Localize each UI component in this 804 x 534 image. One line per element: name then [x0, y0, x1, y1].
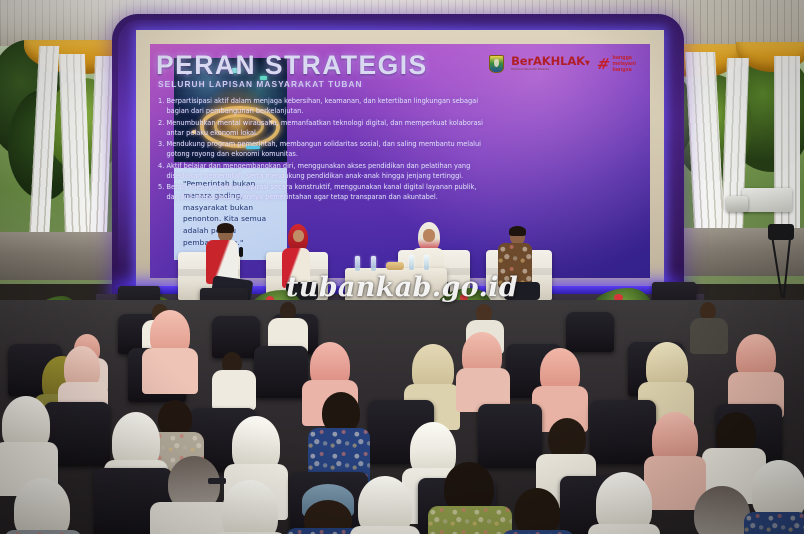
audience-head [514, 488, 560, 534]
slide-list-item: 4.Aktif belajar dan mengembangkan diri, … [158, 161, 488, 181]
slide-list-item: 1.Berpartisipasi aktif dalam menjaga keb… [158, 96, 488, 116]
hashtag-icon: # [595, 57, 611, 72]
list-number: 2. [158, 118, 164, 128]
list-number: 4. [158, 161, 164, 171]
panelist-4-hair [509, 226, 526, 236]
audience-body [350, 526, 420, 534]
slide-list-item: 2.Menumbuhkan mental wirausaha, memanfaa… [158, 118, 488, 138]
water-bottle [371, 256, 376, 271]
audience-body [212, 370, 256, 410]
bangga-line-3: bangsa [612, 67, 636, 73]
slide-title: PERAN STRATEGIS [156, 50, 428, 81]
list-number: 1. [158, 96, 164, 106]
slide-logo-group: BerAKHLAK BANGGA MELAYANI BANGSA # bangg… [489, 55, 636, 73]
slide-subtitle: SELURUH LAPISAN MASYARAKAT TUBAN [158, 79, 363, 89]
snack-plate [386, 262, 404, 270]
audience-body-batik [744, 512, 804, 534]
kabupaten-crest-icon [489, 55, 504, 73]
camera-tripod-head [768, 224, 794, 240]
audience-body [150, 502, 232, 534]
audience-body [142, 348, 198, 394]
audience-chair [590, 400, 656, 464]
list-text: Mendukung program pemerintah, membangun … [167, 140, 482, 158]
audience-hijab-white [752, 460, 804, 520]
list-text: Menumbuhkan mental wirausaha, memanfaatk… [167, 119, 483, 137]
water-bottle [409, 255, 414, 270]
water-bottle [424, 255, 429, 270]
audience-chair [566, 312, 614, 352]
audience-chair [212, 316, 260, 358]
berakhlak-wordmark: BerAKHLAK [511, 56, 590, 68]
check-icon [585, 59, 591, 66]
photograph-scene: "Pemerintah bukan menara gading, masyara… [0, 0, 804, 534]
slide-bullet-list: 1.Berpartisipasi aktif dalam menjaga keb… [158, 96, 488, 204]
list-number: 5. [158, 182, 164, 192]
berakhlak-tagline: BANGGA MELAYANI BANGSA [511, 69, 590, 72]
audience-hijab-white [14, 478, 70, 534]
slide-list-item: 5.Berani menyampaikan aspirasi secara ko… [158, 182, 488, 202]
audience-chair [478, 404, 542, 468]
perimeter-wall-left [0, 232, 116, 280]
audience-body-batik [4, 530, 82, 534]
list-number: 3. [158, 139, 164, 149]
slide-list-item: 3.Mendukung program pemerintah, membangu… [158, 139, 488, 159]
audience-area [0, 300, 804, 534]
bangga-melayani-bangsa-logo: # bangga melayani bangsa [597, 55, 636, 73]
audience-body [690, 318, 728, 354]
panelist-1-hair [217, 223, 234, 233]
list-text: Aktif belajar dan mengembangkan diri, me… [167, 162, 471, 180]
list-text: Berpartisipasi aktif dalam menjaga keber… [167, 97, 479, 115]
parked-van [742, 188, 792, 212]
audience-body-batik-green [428, 506, 512, 534]
parked-van-2 [726, 196, 748, 212]
water-bottle [355, 256, 360, 271]
audience-chair [254, 346, 308, 398]
panelist-1-microphone [239, 247, 243, 257]
bangga-lines: bangga melayani bangsa [612, 55, 636, 73]
panelist-2-face [293, 230, 304, 242]
berakhlak-logo: BerAKHLAK BANGGA MELAYANI BANGSA [511, 56, 590, 72]
audience-body-batik [502, 530, 574, 534]
list-text: Berani menyampaikan aspirasi secara kons… [167, 183, 477, 201]
panelist-4-legs [504, 282, 540, 300]
glasses-icon [208, 478, 226, 484]
audience-hijab-white [222, 480, 278, 534]
audience-body [588, 524, 660, 534]
panelist-3-face [423, 229, 435, 242]
